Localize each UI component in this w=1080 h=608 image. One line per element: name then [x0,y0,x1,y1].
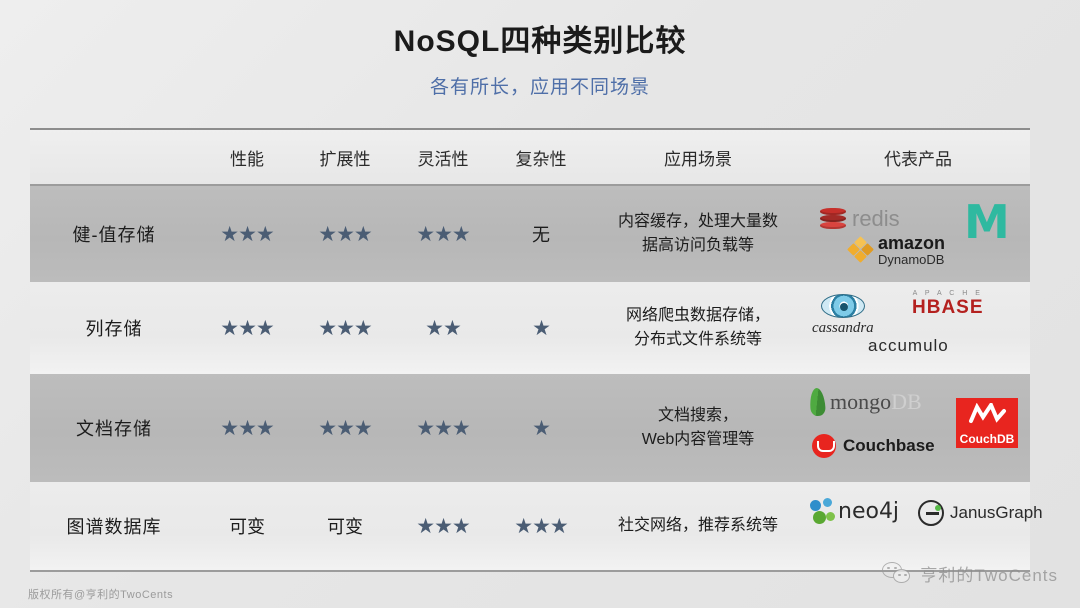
logo-label-amazon: amazon [878,234,945,253]
table-row: 文档存储 ★★★ ★★★ ★★★ ★ 文档搜索， Web内容管理等 mongo … [30,374,1030,482]
cell-scenario-line2: Web内容管理等 [590,428,806,452]
logo-janusgraph: Janus Graph [918,500,1043,526]
cell-products: neo4j Janus Graph [806,482,1030,570]
wechat-icon [882,562,912,586]
memcached-icon: M [964,204,1010,241]
neo4j-icon [810,498,836,524]
dynamodb-icon [848,238,874,262]
cell-complexity: ★ [532,417,550,440]
cell-scalability: ★★★ [318,223,371,246]
watermark: 亨利的TwoCents [882,561,1058,586]
slide-canvas: NoSQL四种类别比较 各有所长，应用不同场景 性能 扩展性 灵活性 复杂性 应… [0,0,1080,608]
logo-cassandra: cassandra [812,294,874,337]
cell-scalability: ★★★ [318,317,371,340]
logo-mongodb: mongo DB [810,388,922,416]
table-bottom-rule [30,570,1030,572]
cell-performance: ★★★ [220,317,273,340]
logo-couchdb: CouchDB [956,398,1018,448]
logo-label-janus: Janus [950,503,995,523]
row-label-column-store: 列存储 [86,319,143,339]
cell-scenario-line2: 分布式文件系统等 [590,328,806,352]
table-row: 列存储 ★★★ ★★★ ★★ ★ 网络爬虫数据存储， 分布式文件系统等 cass… [30,282,1030,374]
comparison-table: 性能 扩展性 灵活性 复杂性 应用场景 代表产品 健-值存储 ★★★ ★★★ ★… [30,128,1030,572]
page-subtitle: 各有所长，应用不同场景 [0,60,1080,99]
logo-memcached: M [964,204,1010,241]
cell-products: cassandra A P A C H E HBASE accumulo [806,282,1030,374]
logo-hbase: A P A C H E HBASE [912,290,984,319]
logo-label-mongo-db: DB [891,389,922,415]
cell-scenario-line1: 网络爬虫数据存储， [590,304,806,328]
logo-label-cassandra: cassandra [812,320,874,337]
cell-flexibility: ★★★ [416,417,469,440]
header-cell-flexibility: 灵活性 [394,145,492,170]
cell-performance: ★★★ [220,223,273,246]
logo-label-dynamodb: DynamoDB [878,253,945,267]
table-row: 图谱数据库 可变 可变 ★★★ ★★★ 社交网络，推荐系统等 neo4j Jan… [30,482,1030,570]
cell-products: redis amazon DynamoDB M [806,186,1030,282]
cassandra-eye-icon [821,294,865,318]
janusgraph-icon [918,500,944,526]
cell-complexity: 无 [532,225,550,245]
cell-scenario-line1: 文档搜索， [590,404,806,428]
logo-label-couchbase: Couchbase [843,436,935,456]
header-cell-products: 代表产品 [806,145,1030,170]
cell-performance: ★★★ [220,417,273,440]
row-label-graph-db: 图谱数据库 [67,517,162,537]
row-label-key-value: 健-值存储 [73,225,156,245]
couchdb-icon: CouchDB [956,398,1018,448]
logo-label-hbase: HBASE [912,297,984,319]
redis-icon [820,208,846,230]
cell-complexity: ★★★ [514,515,567,538]
couch-glyph-icon [967,403,1007,429]
cell-products: mongo DB Couchbase CouchDB [806,374,1030,482]
cell-complexity: ★ [532,317,550,340]
header-cell-scenario: 应用场景 [590,145,806,170]
cell-scalability: 可变 [327,517,363,537]
cell-flexibility: ★★★ [416,223,469,246]
header-cell-scalability: 扩展性 [296,145,394,170]
mongodb-leaf-icon [809,388,826,417]
cell-flexibility: ★★ [425,317,461,340]
logo-label-redis: redis [852,206,900,232]
cell-flexibility: ★★★ [416,515,469,538]
copyright-text: 版权所有@亨利的TwoCents [28,586,173,602]
table-row: 健-值存储 ★★★ ★★★ ★★★ 无 内容缓存，处理大量数 据高访问负载等 r… [30,186,1030,282]
couchbase-icon [812,434,836,458]
page-title: NoSQL四种类别比较 [0,0,1080,60]
header-cell-complexity: 复杂性 [492,145,590,170]
logo-neo4j: neo4j [810,498,899,524]
logo-label-graph: Graph [995,503,1042,523]
logo-accumulo: accumulo [868,336,949,356]
logo-dynamodb: amazon DynamoDB [848,234,945,267]
watermark-label: 亨利的TwoCents [920,561,1058,586]
table-header-row: 性能 扩展性 灵活性 复杂性 应用场景 代表产品 [30,130,1030,184]
logo-couchbase: Couchbase [812,434,935,458]
row-label-document-store: 文档存储 [76,419,152,439]
logo-label-mongo: mongo [830,389,891,415]
logo-label-apache: A P A C H E [913,290,983,297]
header-cell-performance: 性能 [198,145,296,170]
logo-label-accumulo: accumulo [868,336,949,356]
cell-scenario-line2: 据高访问负载等 [590,234,806,258]
cell-scenario-line1: 内容缓存，处理大量数 [590,210,806,234]
logo-label-couchdb: CouchDB [958,432,1017,448]
logo-label-neo4j: neo4j [838,499,899,524]
cell-scalability: ★★★ [318,417,371,440]
logo-redis: redis [820,206,900,232]
cell-scenario-line1: 社交网络，推荐系统等 [590,514,806,538]
cell-performance: 可变 [229,517,265,537]
